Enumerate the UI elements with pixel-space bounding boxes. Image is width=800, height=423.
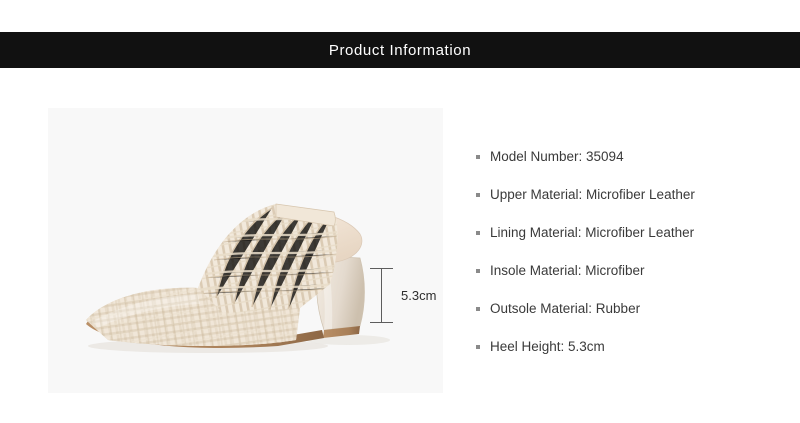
product-photo: Hosb Tiaoray bbox=[48, 108, 443, 393]
product-information-header: Product Information bbox=[0, 32, 800, 68]
bullet-icon bbox=[476, 155, 480, 159]
specification-list: Model Number: 35094 Upper Material: Micr… bbox=[470, 138, 780, 366]
bullet-icon bbox=[476, 269, 480, 273]
heel-height-dimension: 5.3cm bbox=[370, 268, 440, 334]
bullet-icon bbox=[476, 345, 480, 349]
spec-text: Outsole Material: Rubber bbox=[490, 302, 640, 316]
bullet-icon bbox=[476, 307, 480, 311]
content-area: Hosb Tiaoray bbox=[0, 68, 800, 423]
dimension-line bbox=[381, 268, 382, 323]
list-item: Outsole Material: Rubber bbox=[470, 290, 780, 328]
dimension-cap-bottom bbox=[370, 322, 393, 323]
page-title: Product Information bbox=[329, 43, 471, 58]
product-image-panel[interactable]: Hosb Tiaoray bbox=[48, 108, 443, 393]
list-item: Model Number: 35094 bbox=[470, 138, 780, 176]
bullet-icon bbox=[476, 193, 480, 197]
list-item: Lining Material: Microfiber Leather bbox=[470, 214, 780, 252]
list-item: Insole Material: Microfiber bbox=[470, 252, 780, 290]
bullet-icon bbox=[476, 231, 480, 235]
spec-text: Lining Material: Microfiber Leather bbox=[490, 226, 694, 240]
dimension-label: 5.3cm bbox=[401, 288, 436, 303]
spec-text: Model Number: 35094 bbox=[490, 150, 624, 164]
list-item: Heel Height: 5.3cm bbox=[470, 328, 780, 366]
spec-text: Heel Height: 5.3cm bbox=[490, 340, 605, 354]
spec-text: Upper Material: Microfiber Leather bbox=[490, 188, 695, 202]
spec-text: Insole Material: Microfiber bbox=[490, 264, 645, 278]
shoe-illustration: Hosb Tiaoray bbox=[48, 108, 443, 393]
list-item: Upper Material: Microfiber Leather bbox=[470, 176, 780, 214]
